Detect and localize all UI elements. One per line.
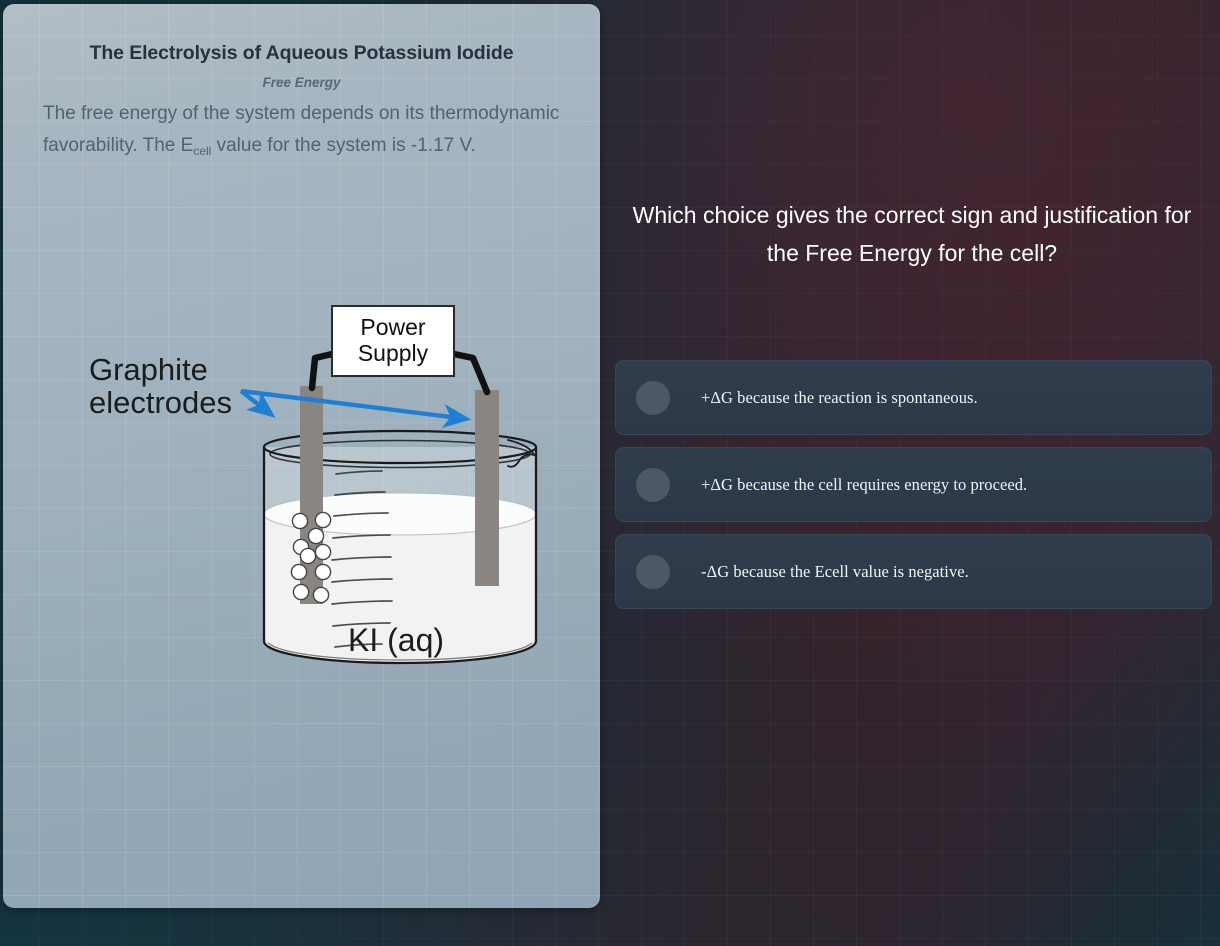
power-supply-box: Power Supply (331, 305, 455, 377)
arrow-to-left-electrode (241, 391, 272, 415)
stimulus-body-part2: value for the system is -1.17 V. (211, 135, 475, 156)
beaker-graduations (332, 471, 392, 647)
beaker-rim-outer (264, 431, 536, 463)
beaker-rim-inner (270, 441, 530, 468)
question-prompt: Which choice gives the correct sign and … (632, 196, 1192, 272)
solution-label: KI (aq) (348, 624, 444, 658)
answer-choice-a-label: +ΔG because the reaction is spontaneous. (701, 388, 978, 408)
radio-button-a[interactable] (636, 381, 670, 415)
wire-left (312, 354, 332, 388)
power-supply-line2: Supply (358, 341, 428, 367)
app-root: The Electrolysis of Aqueous Potassium Io… (0, 0, 1220, 946)
page-title: The Electrolysis of Aqueous Potassium Io… (43, 42, 560, 65)
beaker-spout (508, 440, 534, 467)
answer-choice-b[interactable]: +ΔG because the cell requires energy to … (615, 447, 1212, 522)
graphite-electrodes-label: Graphite electrodes (89, 354, 232, 420)
answer-choice-c-label: -ΔG because the Ecell value is negative. (701, 562, 969, 582)
electrode-left (300, 386, 323, 604)
question-panel: Which choice gives the correct sign and … (600, 0, 1220, 946)
radio-button-c[interactable] (636, 555, 670, 589)
gas-bubbles (291, 512, 330, 602)
answer-choice-c[interactable]: -ΔG because the Ecell value is negative. (615, 534, 1212, 609)
electrode-right (475, 390, 499, 586)
arrow-to-right-electrode (241, 391, 467, 419)
power-supply-line1: Power (360, 315, 425, 341)
pointer-arrows (241, 391, 467, 419)
stimulus-subtitle: Free Energy (43, 75, 560, 90)
wire-right (454, 354, 487, 392)
answer-choice-list: +ΔG because the reaction is spontaneous.… (615, 360, 1212, 621)
stimulus-text-block: The Electrolysis of Aqueous Potassium Io… (3, 4, 600, 163)
answer-choice-a[interactable]: +ΔG because the reaction is spontaneous. (615, 360, 1212, 435)
answer-choice-b-label: +ΔG because the cell requires energy to … (701, 475, 1027, 495)
ecell-subscript: cell (193, 144, 211, 158)
graphite-label-line2: electrodes (89, 385, 232, 420)
solution-surface (264, 493, 536, 535)
stimulus-card: The Electrolysis of Aqueous Potassium Io… (3, 4, 600, 908)
radio-button-b[interactable] (636, 468, 670, 502)
graphite-label-line1: Graphite (89, 352, 208, 387)
stimulus-body-text: The free energy of the system depends on… (43, 98, 560, 163)
